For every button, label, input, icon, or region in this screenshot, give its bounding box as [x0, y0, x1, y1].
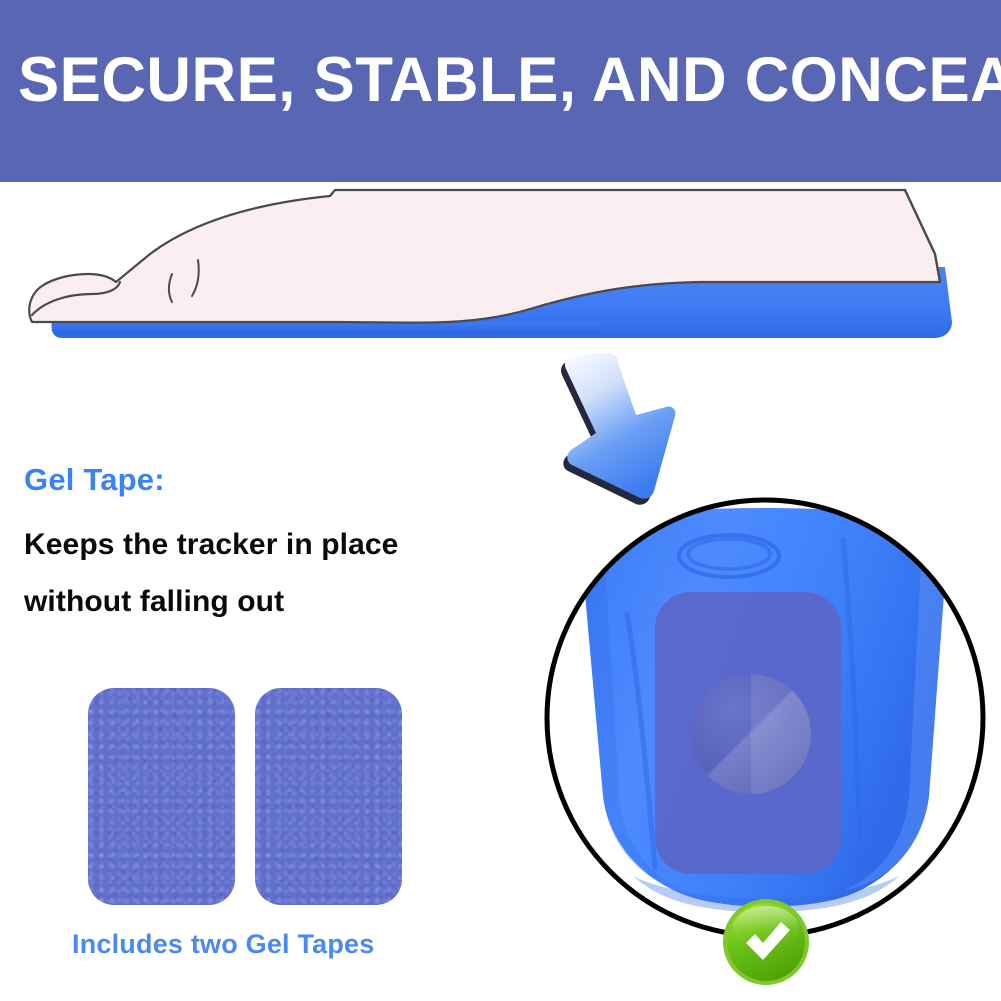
zoom-inset-circle	[543, 496, 987, 940]
header-banner: SECURE, STABLE, AND CONCEALE	[0, 0, 1001, 182]
green-check-badge	[722, 898, 810, 986]
gel-tape-swatch-1	[88, 688, 235, 905]
gel-tape-description-line-1: Keeps the tracker in place	[24, 516, 544, 573]
insole-front-lip	[51, 322, 600, 334]
page-title: SECURE, STABLE, AND CONCEALE	[18, 46, 1001, 114]
gel-tape-description: Keeps the tracker in place without falli…	[24, 516, 544, 630]
gel-tape-heading: Gel Tape:	[24, 462, 165, 498]
down-arrow-icon	[540, 345, 710, 510]
gel-tape-swatch-2	[255, 688, 402, 905]
tracker-gloss	[691, 674, 811, 794]
gel-tape-caption: Includes two Gel Tapes	[72, 928, 374, 960]
foot-insole-illustration	[0, 182, 1001, 362]
gel-tape-description-line-2: without falling out	[24, 573, 544, 630]
